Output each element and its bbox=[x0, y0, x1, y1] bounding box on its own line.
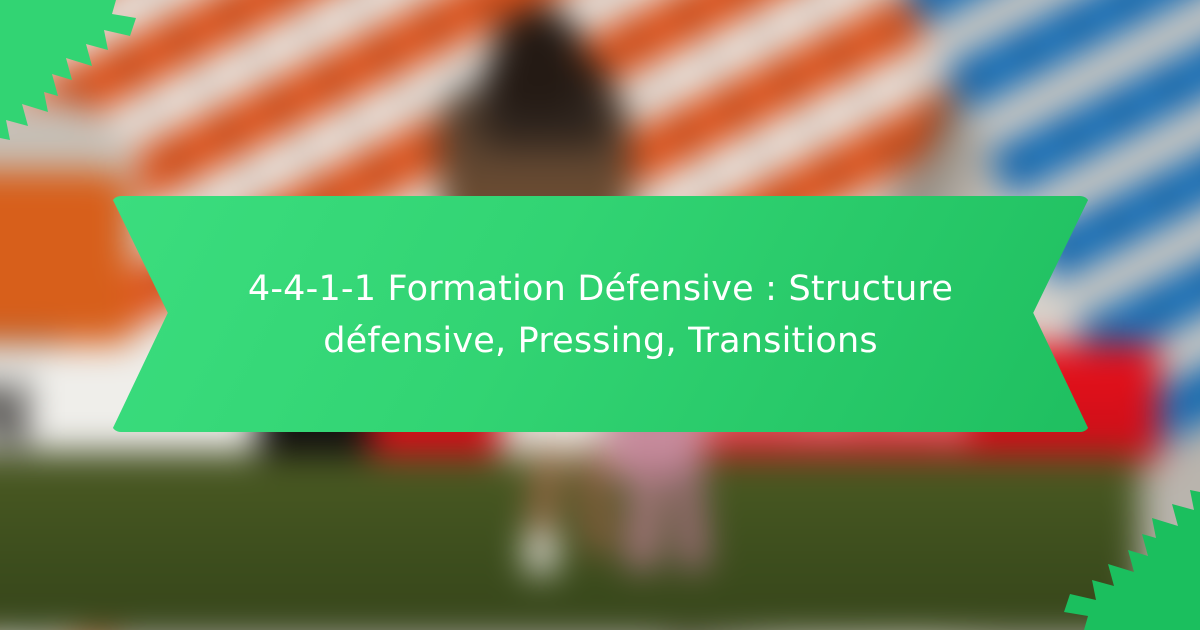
grass-pitch bbox=[0, 456, 1140, 630]
background-player-a-sock bbox=[526, 530, 556, 574]
background-player-upper-head bbox=[492, 6, 584, 114]
page-title: 4-4-1-1 Formation Défensive : Structure … bbox=[221, 263, 981, 367]
title-ribbon-banner: 4-4-1-1 Formation Défensive : Structure … bbox=[111, 196, 1090, 432]
page-title-line-1: 4-4-1-1 Formation Défensive : Structure bbox=[248, 269, 953, 309]
stadium-signage-text: AN bbox=[0, 364, 37, 464]
poster-canvas: AN santand 4-4-1-1 Formation Défensive :… bbox=[0, 0, 1200, 630]
page-title-line-2: défensive, Pressing, Transitions bbox=[323, 321, 878, 361]
